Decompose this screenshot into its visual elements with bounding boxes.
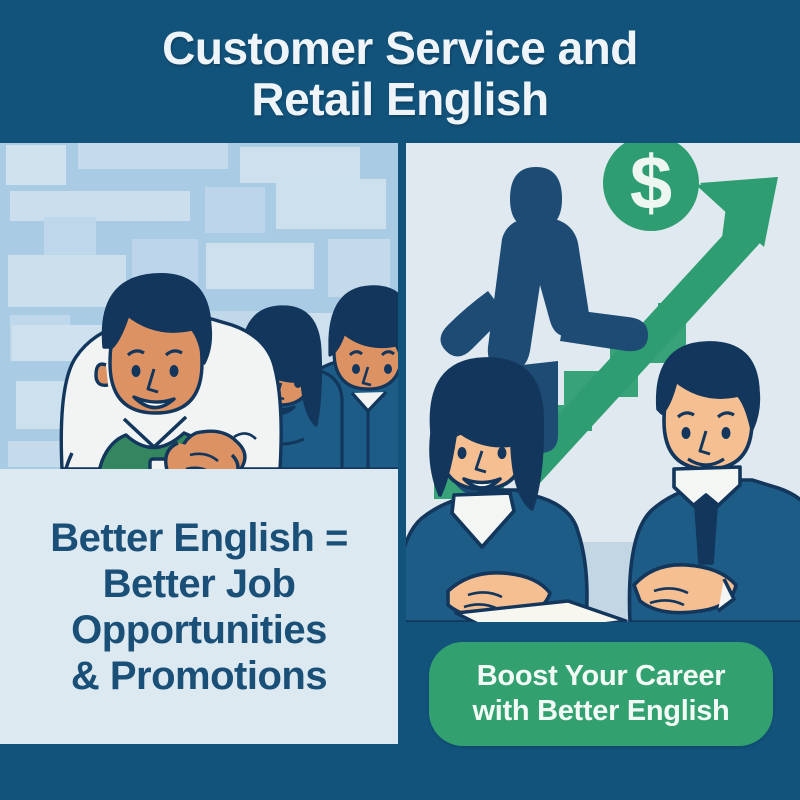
- value-prop-line-3: Opportunities: [50, 607, 348, 653]
- cta-line-2: with Better English: [473, 694, 730, 729]
- value-prop-line-1: Better English =: [50, 515, 348, 561]
- left-illustration-panel: [0, 143, 398, 469]
- panel-divider: [398, 143, 406, 622]
- dollar-glyph: $: [630, 143, 672, 226]
- page-title: Customer Service and Retail English: [162, 19, 638, 125]
- career-growth-illustration: $: [406, 143, 800, 622]
- boost-career-cta-button[interactable]: Boost Your Career with Better English: [429, 642, 773, 746]
- poster-root: Customer Service and Retail English: [0, 0, 800, 800]
- value-prop-line-2: Better Job: [50, 561, 348, 607]
- page-title-line-2: Retail English: [162, 74, 638, 125]
- value-prop-line-4: & Promotions: [50, 653, 348, 699]
- value-proposition-block: Better English = Better Job Opportunitie…: [0, 469, 398, 744]
- header-banner: Customer Service and Retail English: [0, 0, 800, 143]
- value-proposition-text: Better English = Better Job Opportunitie…: [38, 515, 360, 699]
- cta-line-1: Boost Your Career: [473, 659, 730, 694]
- retail-handshake-illustration: [0, 143, 398, 469]
- right-illustration-panel: $: [406, 143, 800, 622]
- cta-label: Boost Your Career with Better English: [473, 659, 730, 729]
- page-title-line-1: Customer Service and: [162, 23, 638, 74]
